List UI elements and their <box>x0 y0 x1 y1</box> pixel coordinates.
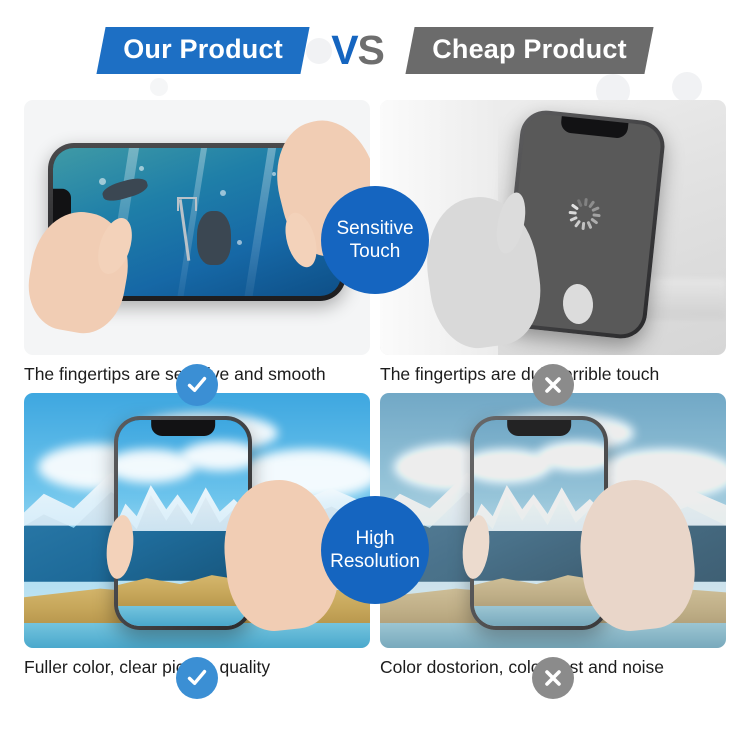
feature-line-1: High <box>355 527 394 550</box>
photo-grayscale-phone-loading <box>380 100 726 355</box>
vs-s-letter: S <box>358 27 384 73</box>
feature-line-2: Resolution <box>330 550 420 573</box>
verdict-cross-badge <box>532 657 574 699</box>
feature-badge-high-resolution: High Resolution <box>321 496 429 604</box>
photo-vivid-mountain-landscape <box>24 393 370 648</box>
lake <box>118 606 248 627</box>
feature-line-2: Touch <box>350 240 401 263</box>
bubble <box>272 172 276 176</box>
panel-cheap-resolution: Color dostorion, color cast and noise <box>380 393 726 678</box>
photo-gaming-phone-underwater <box>24 100 370 355</box>
cloud <box>537 441 605 471</box>
verdict-check-badge <box>176 657 218 699</box>
check-icon <box>185 666 209 690</box>
cheap-product-badge: Cheap Product <box>405 27 653 74</box>
panel-our-resolution: Fuller color, clear picture quality <box>24 393 370 678</box>
our-product-badge: Our Product <box>97 27 310 74</box>
cloud <box>181 441 249 471</box>
check-icon <box>185 373 209 397</box>
close-icon <box>541 666 565 690</box>
close-icon <box>541 373 565 397</box>
trident-prongs <box>177 197 197 211</box>
verdict-check-badge <box>176 364 218 406</box>
lake <box>474 606 604 627</box>
photo-washed-mountain-landscape <box>380 393 726 648</box>
phone-notch <box>151 420 215 436</box>
our-product-label: Our Product <box>124 34 284 65</box>
cheap-product-label: Cheap Product <box>432 34 627 65</box>
bubble <box>220 190 226 196</box>
phone-notch <box>507 420 571 436</box>
panel-our-touch: The fingertips are senstive and smooth <box>24 100 370 385</box>
comparison-header: Our Product VS Cheap Product <box>0 0 750 100</box>
feature-badge-sensitive-touch: Sensitive Touch <box>321 186 429 294</box>
feature-line-1: Sensitive <box>336 217 413 240</box>
panel-cheap-touch: The fingertips are dull, terrible touch <box>380 100 726 385</box>
verdict-cross-badge <box>532 364 574 406</box>
diver-main <box>197 211 231 265</box>
vs-label: VS <box>331 27 384 74</box>
vs-v-letter: V <box>331 27 357 73</box>
